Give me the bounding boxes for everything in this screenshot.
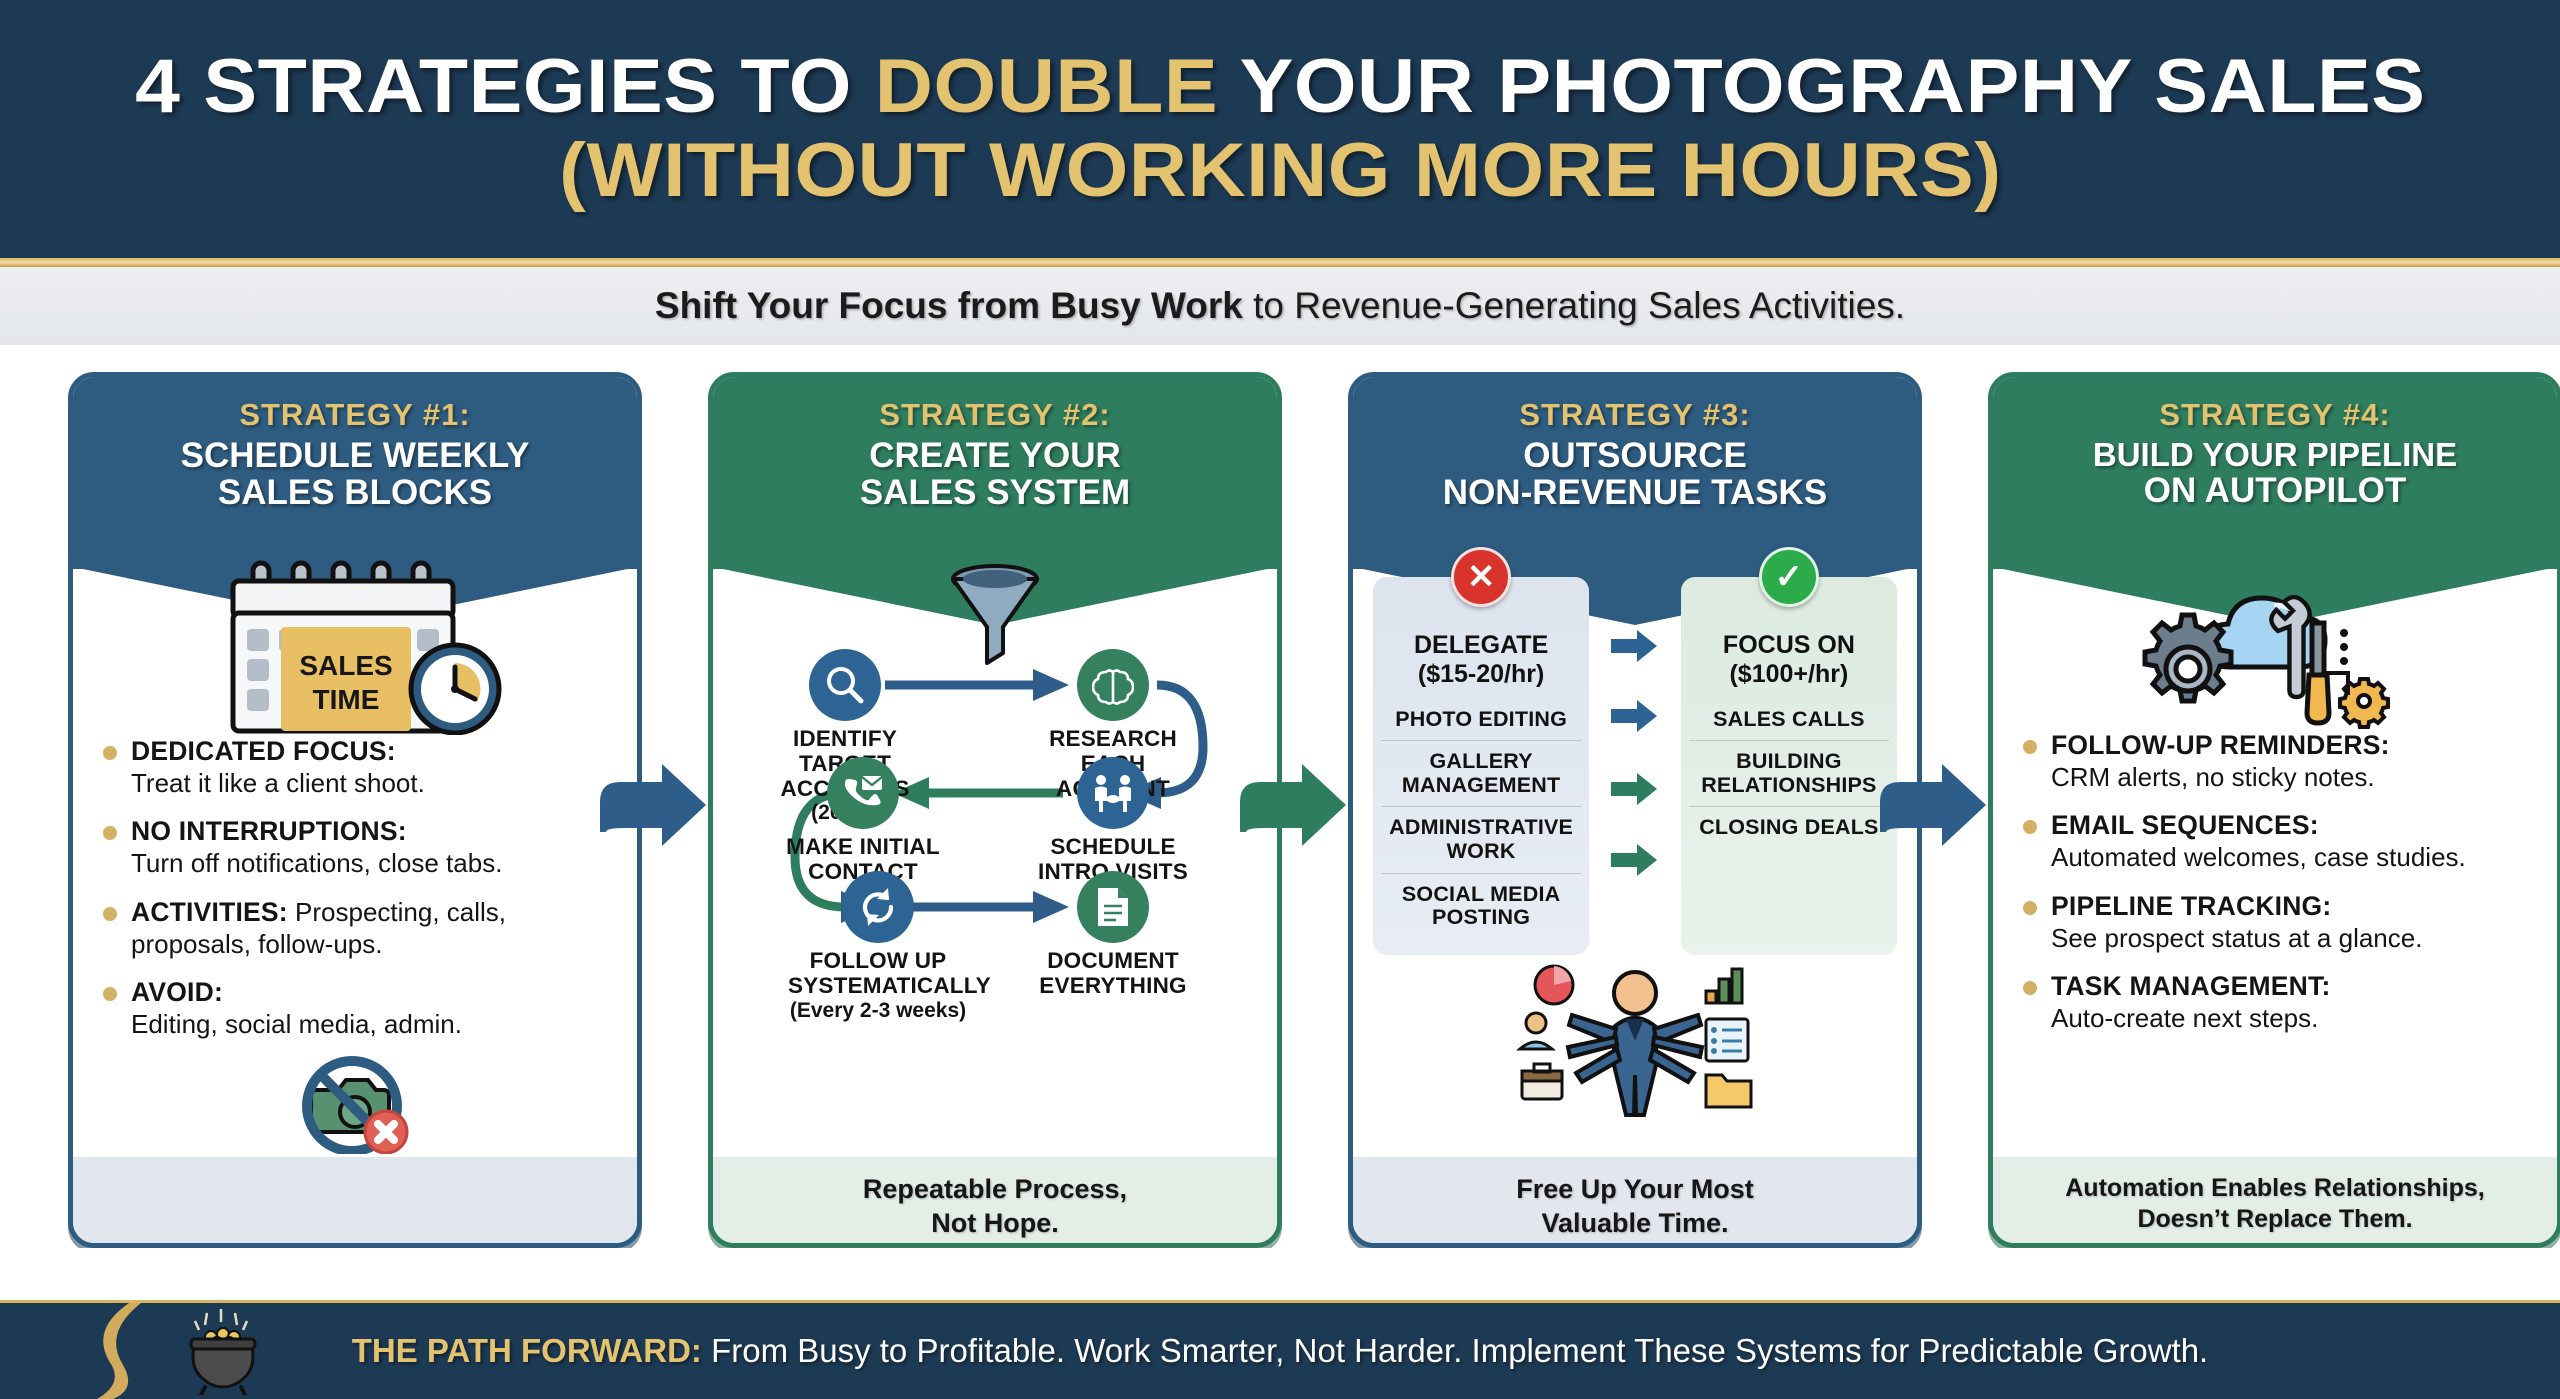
focus-item: SALES CALLS (1689, 699, 1889, 741)
focus-title: FOCUS ON ($100+/hr) (1689, 631, 1889, 689)
card-1-footer (73, 1157, 637, 1243)
white-spacer (0, 1248, 2560, 1300)
bullet-desc: CRM alerts, no sticky notes. (2051, 762, 2375, 792)
flow-node-follow-up-systematically: FOLLOW UPSYSTEMATICALLY (Every 2-3 weeks… (788, 871, 968, 1023)
calendar-label-line1: SALES (299, 650, 392, 681)
list-item: EMAIL SEQUENCES:Automated welcomes, case… (2013, 809, 2537, 873)
strategy-card-3[interactable]: STRATEGY #3: OUTSOURCE NON-REVENUE TASKS… (1348, 372, 1922, 1248)
footer-text: THE PATH FORWARD: From Busy to Profitabl… (0, 1332, 2560, 1370)
title-part-2: YOUR PHOTOGRAPHY SALES (1218, 44, 2425, 129)
list-item: PIPELINE TRACKING:See prospect status at… (2013, 890, 2537, 954)
refresh-icon (842, 871, 914, 943)
pot-of-gold-icon (175, 1309, 287, 1395)
focus-item: CLOSING DEALS (1689, 806, 1889, 849)
card-4-header: STRATEGY #4: BUILD YOUR PIPELINE ON AUTO… (1993, 377, 2557, 569)
card-2-footer-line2: Not Hope. (727, 1207, 1263, 1241)
card-2-header: STRATEGY #2: CREATE YOUR SALES SYSTEM (713, 377, 1277, 569)
card-4-footer: Automation Enables Relationships, Doesn’… (1993, 1157, 2557, 1243)
flow-node-document-everything: DOCUMENTEVERYTHING (1023, 871, 1203, 999)
card-4-title-line1: BUILD YOUR PIPELINE (2011, 437, 2539, 472)
focus-column: ✓ FOCUS ON ($100+/hr) SALES CALLS BUILDI… (1681, 577, 1897, 955)
card-3-title-line1: OUTSOURCE (1371, 437, 1899, 474)
bullet-desc: See prospect status at a glance. (2051, 923, 2422, 953)
title-highlight-double: DOUBLE (874, 44, 1217, 129)
card-1-strategy-label: STRATEGY #1: (91, 397, 619, 433)
card-4-strategy-label: STRATEGY #4: (2011, 397, 2539, 433)
list-item: AVOID:Editing, social media, admin. (93, 976, 617, 1040)
card-1-title: SCHEDULE WEEKLY SALES BLOCKS (91, 437, 619, 512)
bullet-desc: Treat it like a client shoot. (131, 768, 425, 798)
delegate-vs-focus-table: ✕ DELEGATE ($15-20/hr) PHOTO EDITING GAL… (1373, 577, 1897, 955)
page-title: 4 STRATEGIES TO DOUBLE YOUR PHOTOGRAPHY … (135, 48, 2425, 126)
card-1-bullet-list: DEDICATED FOCUS:Treat it like a client s… (93, 735, 617, 1041)
card-4-footer-line1: Automation Enables Relationships, (2007, 1173, 2543, 1204)
focus-title-line2: ($100+/hr) (1689, 660, 1889, 689)
check-mark-icon: ✓ (1759, 547, 1819, 607)
card-2-strategy-label: STRATEGY #2: (731, 397, 1259, 433)
card-4-title: BUILD YOUR PIPELINE ON AUTOPILOT (2011, 437, 2539, 510)
card-2-footer: Repeatable Process, Not Hope. (713, 1157, 1277, 1243)
delegate-item: GALLERY MANAGEMENT (1381, 740, 1581, 806)
card-2-body: IDENTIFY TARGETACCOUNTS (20-30) RESEARCH… (713, 557, 1277, 1165)
delegate-item: PHOTO EDITING (1381, 699, 1581, 741)
bullet-desc: Auto-create next steps. (2051, 1003, 2318, 1033)
x-mark-icon: ✕ (1451, 547, 1511, 607)
card-2-footer-line1: Repeatable Process, (727, 1173, 1263, 1207)
bullet-term: DEDICATED FOCUS: (131, 736, 396, 766)
sales-system-flow-diagram: IDENTIFY TARGETACCOUNTS (20-30) RESEARCH… (733, 557, 1257, 1117)
card-3-footer-line2: Valuable Time. (1367, 1207, 1903, 1241)
calendar-label-line2: TIME (313, 684, 380, 715)
multitasking-person-icon (1373, 961, 1897, 1126)
focus-item: BUILDING RELATIONSHIPS (1689, 740, 1889, 806)
cloud-automation-icon (2013, 561, 2537, 729)
card-1-header: STRATEGY #1: SCHEDULE WEEKLY SALES BLOCK… (73, 377, 637, 569)
subtitle-regular: to Revenue-Generating Sales Activities. (1243, 285, 1905, 326)
brain-icon (1077, 649, 1149, 721)
flow-arrow-2-to-3 (1240, 760, 1350, 850)
card-3-footer-line1: Free Up Your Most (1367, 1173, 1903, 1207)
bullet-term: PIPELINE TRACKING: (2051, 891, 2331, 921)
list-item: NO INTERRUPTIONS:Turn off notifications,… (93, 815, 617, 879)
title-part-1: 4 STRATEGIES TO (135, 44, 875, 129)
phone-mail-icon (827, 757, 899, 829)
card-1-title-line1: SCHEDULE WEEKLY (91, 437, 619, 474)
list-item: DEDICATED FOCUS:Treat it like a client s… (93, 735, 617, 799)
strategy-card-1[interactable]: STRATEGY #1: SCHEDULE WEEKLY SALES BLOCK… (68, 372, 642, 1248)
card-4-title-line2: ON AUTOPILOT (2011, 472, 2539, 509)
list-item: ACTIVITIES: Prospecting, calls, proposal… (93, 896, 617, 960)
footer-banner: THE PATH FORWARD: From Busy to Profitabl… (0, 1300, 2560, 1399)
subtitle-bold: Shift Your Focus from Busy Work (655, 285, 1243, 326)
card-4-bullet-list: FOLLOW-UP REMINDERS:CRM alerts, no stick… (2013, 729, 2537, 1035)
card-3-body: ✕ DELEGATE ($15-20/hr) PHOTO EDITING GAL… (1353, 577, 1917, 1185)
card-3-footer: Free Up Your Most Valuable Time. (1353, 1157, 1917, 1243)
flow-node-label: DOCUMENTEVERYTHING (1023, 949, 1203, 999)
flow-node-sublabel: (Every 2-3 weeks) (788, 999, 968, 1023)
magnifier-icon (809, 649, 881, 721)
strategy-card-4[interactable]: STRATEGY #4: BUILD YOUR PIPELINE ON AUTO… (1988, 372, 2560, 1248)
delegate-to-focus-arrows (1609, 577, 1661, 955)
delegate-column: ✕ DELEGATE ($15-20/hr) PHOTO EDITING GAL… (1373, 577, 1589, 955)
bullet-desc: Editing, social media, admin. (131, 1009, 462, 1039)
handshake-icon (1077, 757, 1149, 829)
infographic-page: 4 STRATEGIES TO DOUBLE YOUR PHOTOGRAPHY … (0, 0, 2560, 1396)
bullet-term: NO INTERRUPTIONS: (131, 816, 407, 846)
no-camera-icon (296, 1050, 414, 1159)
footer-body: From Busy to Profitable. Work Smarter, N… (702, 1332, 2208, 1369)
list-item: TASK MANAGEMENT:Auto-create next steps. (2013, 970, 2537, 1034)
bullet-term: AVOID: (131, 977, 223, 1007)
card-1-body: SALES TIME DEDICATED FOCUS:Treat it like… (73, 559, 637, 1167)
gold-divider (0, 258, 2560, 267)
card-3-title: OUTSOURCE NON-REVENUE TASKS (1371, 437, 1899, 512)
card-3-title-line2: NON-REVENUE TASKS (1371, 474, 1899, 511)
card-4-footer-line2: Doesn’t Replace Them. (2007, 1204, 2543, 1235)
bullet-term: TASK MANAGEMENT: (2051, 971, 2330, 1001)
card-4-body: FOLLOW-UP REMINDERS:CRM alerts, no stick… (1993, 561, 2557, 1169)
subtitle-text: Shift Your Focus from Busy Work to Reven… (655, 285, 1905, 327)
delegate-item: ADMINISTRATIVE WORK (1381, 806, 1581, 872)
flow-node-make-initial-contact: MAKE INITIALCONTACT (773, 757, 953, 885)
flow-node-label: FOLLOW UPSYSTEMATICALLY (788, 949, 968, 999)
flow-arrow-1-to-2 (600, 760, 710, 850)
bullet-term: EMAIL SEQUENCES: (2051, 810, 2319, 840)
card-2-title-line1: CREATE YOUR (731, 437, 1259, 474)
card-2-title: CREATE YOUR SALES SYSTEM (731, 437, 1259, 512)
bullet-desc: Turn off notifications, close tabs. (131, 848, 502, 878)
subtitle-band: Shift Your Focus from Busy Work to Reven… (0, 267, 2560, 345)
delegate-title-line1: DELEGATE (1381, 631, 1581, 660)
card-3-header: STRATEGY #3: OUTSOURCE NON-REVENUE TASKS (1353, 377, 1917, 569)
footer-highlight: THE PATH FORWARD: (352, 1332, 702, 1369)
delegate-title: DELEGATE ($15-20/hr) (1381, 631, 1581, 689)
card-3-strategy-label: STRATEGY #3: (1371, 397, 1899, 433)
delegate-title-line2: ($15-20/hr) (1381, 660, 1581, 689)
flow-arrow-3-to-4 (1880, 760, 1990, 850)
delegate-item: SOCIAL MEDIA POSTING (1381, 873, 1581, 939)
strategy-card-2[interactable]: STRATEGY #2: CREATE YOUR SALES SYSTEM (708, 372, 1282, 1248)
header-banner: 4 STRATEGIES TO DOUBLE YOUR PHOTOGRAPHY … (0, 0, 2560, 258)
card-2-title-line2: SALES SYSTEM (731, 474, 1259, 511)
document-icon (1077, 871, 1149, 943)
calendar-clock-icon: SALES TIME (93, 559, 617, 735)
flow-node-schedule-intro-visits: SCHEDULEINTRO VISITS (1023, 757, 1203, 885)
list-item: FOLLOW-UP REMINDERS:CRM alerts, no stick… (2013, 729, 2537, 793)
bullet-term: FOLLOW-UP REMINDERS: (2051, 730, 2390, 760)
page-subtitle-parenthetical: (WITHOUT WORKING MORE HOURS) (559, 132, 2001, 210)
focus-title-line1: FOCUS ON (1689, 631, 1889, 660)
card-1-title-line2: SALES BLOCKS (91, 474, 619, 511)
bullet-term: ACTIVITIES: (131, 897, 288, 927)
bullet-desc: Automated welcomes, case studies. (2051, 842, 2466, 872)
